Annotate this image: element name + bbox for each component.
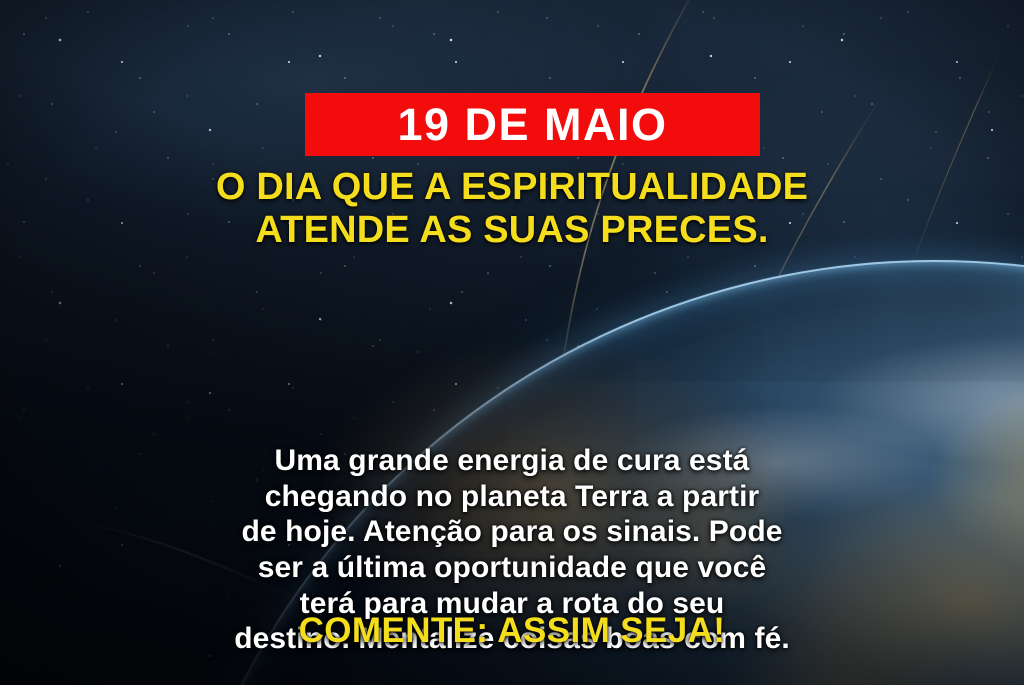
headline-line-1: O DIA QUE A ESPIRITUALIDADE (44, 166, 980, 209)
poster-canvas: 19 DE MAIO O DIA QUE A ESPIRITUALIDADE A… (0, 0, 1024, 685)
body-line-2: chegando no planeta Terra a partir (46, 479, 978, 515)
body-line-1: Uma grande energia de cura está (46, 443, 978, 479)
cta-label: COMENTE: ASSIM SEJA! (299, 611, 726, 650)
headline: O DIA QUE A ESPIRITUALIDADE ATENDE AS SU… (0, 166, 1024, 253)
poster-content: 19 DE MAIO O DIA QUE A ESPIRITUALIDADE A… (0, 0, 1024, 685)
date-banner-label: 19 DE MAIO (397, 102, 667, 147)
date-banner: 19 DE MAIO (305, 93, 760, 156)
body-line-3: de hoje. Atenção para os sinais. Pode (46, 514, 978, 550)
call-to-action: COMENTE: ASSIM SEJA! (0, 612, 1024, 651)
body-line-4: ser a última oportunidade que você (46, 550, 978, 586)
headline-line-2: ATENDE AS SUAS PRECES. (44, 209, 980, 252)
